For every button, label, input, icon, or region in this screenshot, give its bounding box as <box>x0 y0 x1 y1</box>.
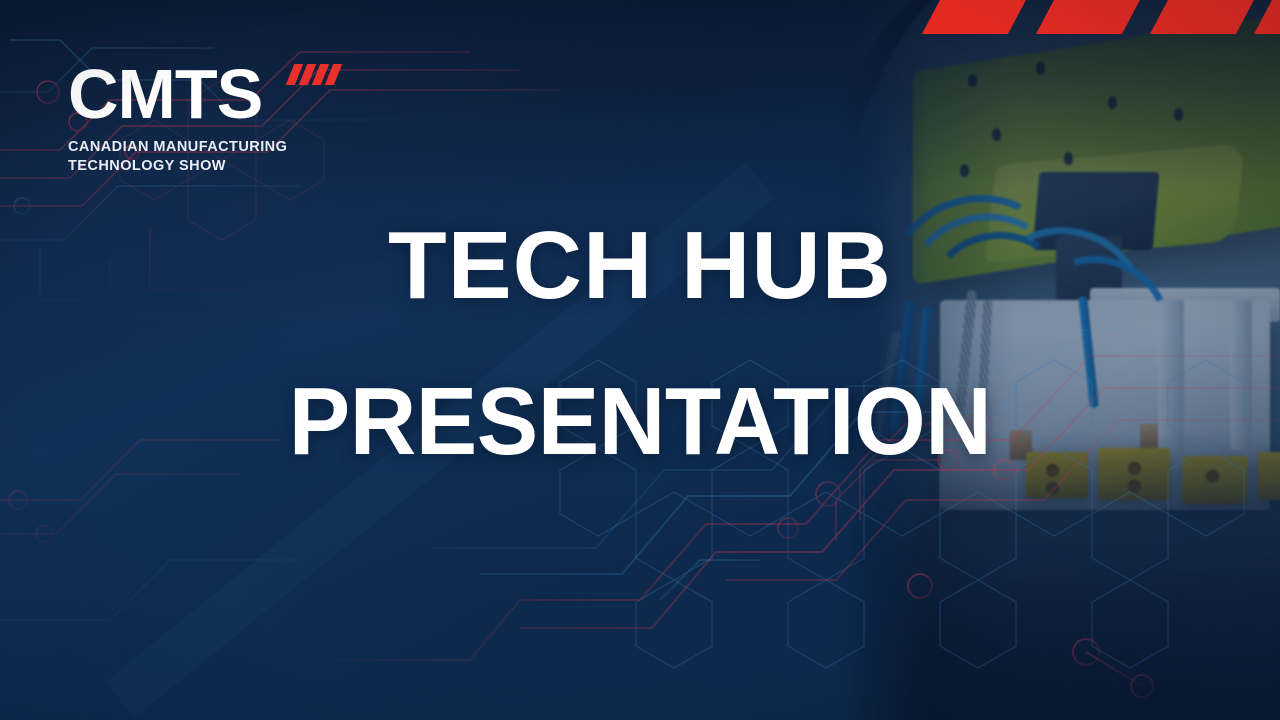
cmts-logo-mark: CMTS <box>68 58 368 130</box>
headline-line-2: PRESENTATION <box>26 374 1255 470</box>
cmts-logo-subtitle: CANADIAN MANUFACTURING TECHNOLOGY SHOW <box>68 138 368 176</box>
cmts-logo-subtitle-line2: TECHNOLOGY SHOW <box>68 157 368 176</box>
cmts-accent-slashes-icon <box>290 64 346 86</box>
slide-headline: TECH HUB PRESENTATION <box>0 218 1280 470</box>
cmts-logo-subtitle-line1: CANADIAN MANUFACTURING <box>68 138 368 157</box>
cmts-logo: CMTS CANADIAN MANUFACTURING TECHNOLOGY S… <box>68 58 368 176</box>
headline-line-1: TECH HUB <box>0 218 1280 314</box>
red-stripe <box>922 0 1028 34</box>
red-stripe <box>1254 0 1280 34</box>
red-stripe-group <box>920 0 1280 34</box>
presentation-slide: CMTS CANADIAN MANUFACTURING TECHNOLOGY S… <box>0 0 1280 720</box>
red-stripe <box>1150 0 1256 34</box>
red-stripe <box>1036 0 1142 34</box>
